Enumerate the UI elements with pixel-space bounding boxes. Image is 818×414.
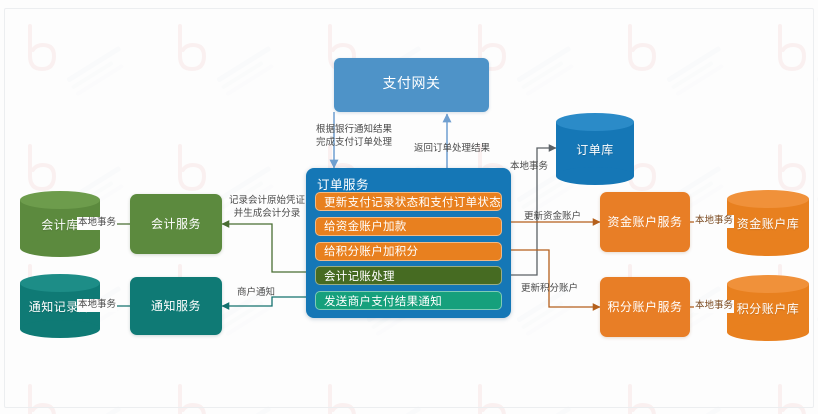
db-points-account[interactable]: 积分账户库	[727, 275, 809, 341]
edge-label-order-to-fund: 更新资金账户	[524, 211, 581, 224]
node-payment-gateway[interactable]: 支付网关	[334, 58, 489, 112]
edge-label-order-to-accounting: 记录会计原始凭证 并生成会计分录	[229, 195, 305, 221]
edge-label-line2: 完成支付订单处理	[316, 137, 392, 150]
edge-label-gateway-up: 返回订单处理结果	[414, 143, 490, 156]
node-accounting-service[interactable]: 会计服务	[130, 194, 222, 254]
node-label: 积分账户服务	[607, 300, 682, 315]
db-fund-account[interactable]: 资金账户库	[727, 190, 809, 256]
order-service-title: 订单服务	[317, 174, 369, 193]
edge-label-points-to-db: 本地事务	[694, 300, 734, 313]
node-label: 会计服务	[151, 217, 201, 232]
task-item[interactable]: 给积分账户加积分	[315, 242, 502, 261]
task-item[interactable]: 更新支付记录状态和支付订单状态	[315, 192, 502, 211]
edge-label-order-to-orderdb: 本地事务	[510, 161, 548, 174]
db-order[interactable]: 订单库	[556, 113, 634, 185]
edge-label-accounting-to-db: 本地事务	[77, 217, 117, 230]
task-item[interactable]: 给资金账户加款	[315, 217, 502, 236]
node-order-service[interactable]: 订单服务 更新支付记录状态和支付订单状态 给资金账户加款 给积分账户加积分 会计…	[306, 168, 511, 318]
node-notification-service[interactable]: 通知服务	[130, 277, 222, 335]
edge-label-line1: 根据银行通知结果	[316, 124, 392, 137]
db-label: 资金账户库	[727, 190, 809, 256]
edge-label-gateway-down: 根据银行通知结果 完成支付订单处理	[316, 124, 392, 150]
task-item[interactable]: 会计记账处理	[315, 266, 502, 285]
node-label: 资金账户服务	[607, 215, 682, 230]
task-item[interactable]: 发送商户支付结果通知	[315, 291, 502, 310]
node-label: 支付网关	[383, 76, 441, 94]
node-label: 通知服务	[151, 299, 201, 314]
diagram-canvas: 支付网关 根据银行通知结果 完成支付订单处理 返回订单处理结果 订单服务 更新支…	[0, 0, 818, 414]
node-fund-account-service[interactable]: 资金账户服务	[600, 192, 690, 252]
node-points-account-service[interactable]: 积分账户服务	[600, 277, 690, 337]
edge-label-fund-to-db: 本地事务	[694, 215, 734, 228]
edge-label-line2: 并生成会计分录	[229, 208, 305, 221]
order-service-task-list: 更新支付记录状态和支付订单状态 给资金账户加款 给积分账户加积分 会计记账处理 …	[315, 192, 502, 310]
edge-label-notification-to-db: 本地事务	[77, 299, 117, 312]
edge-label-order-to-notification: 商户通知	[237, 287, 275, 300]
db-label: 积分账户库	[727, 275, 809, 341]
edge-label-line1: 记录会计原始凭证	[229, 195, 305, 208]
db-label: 订单库	[556, 113, 634, 185]
edge-label-order-to-points: 更新积分账户	[521, 283, 578, 296]
